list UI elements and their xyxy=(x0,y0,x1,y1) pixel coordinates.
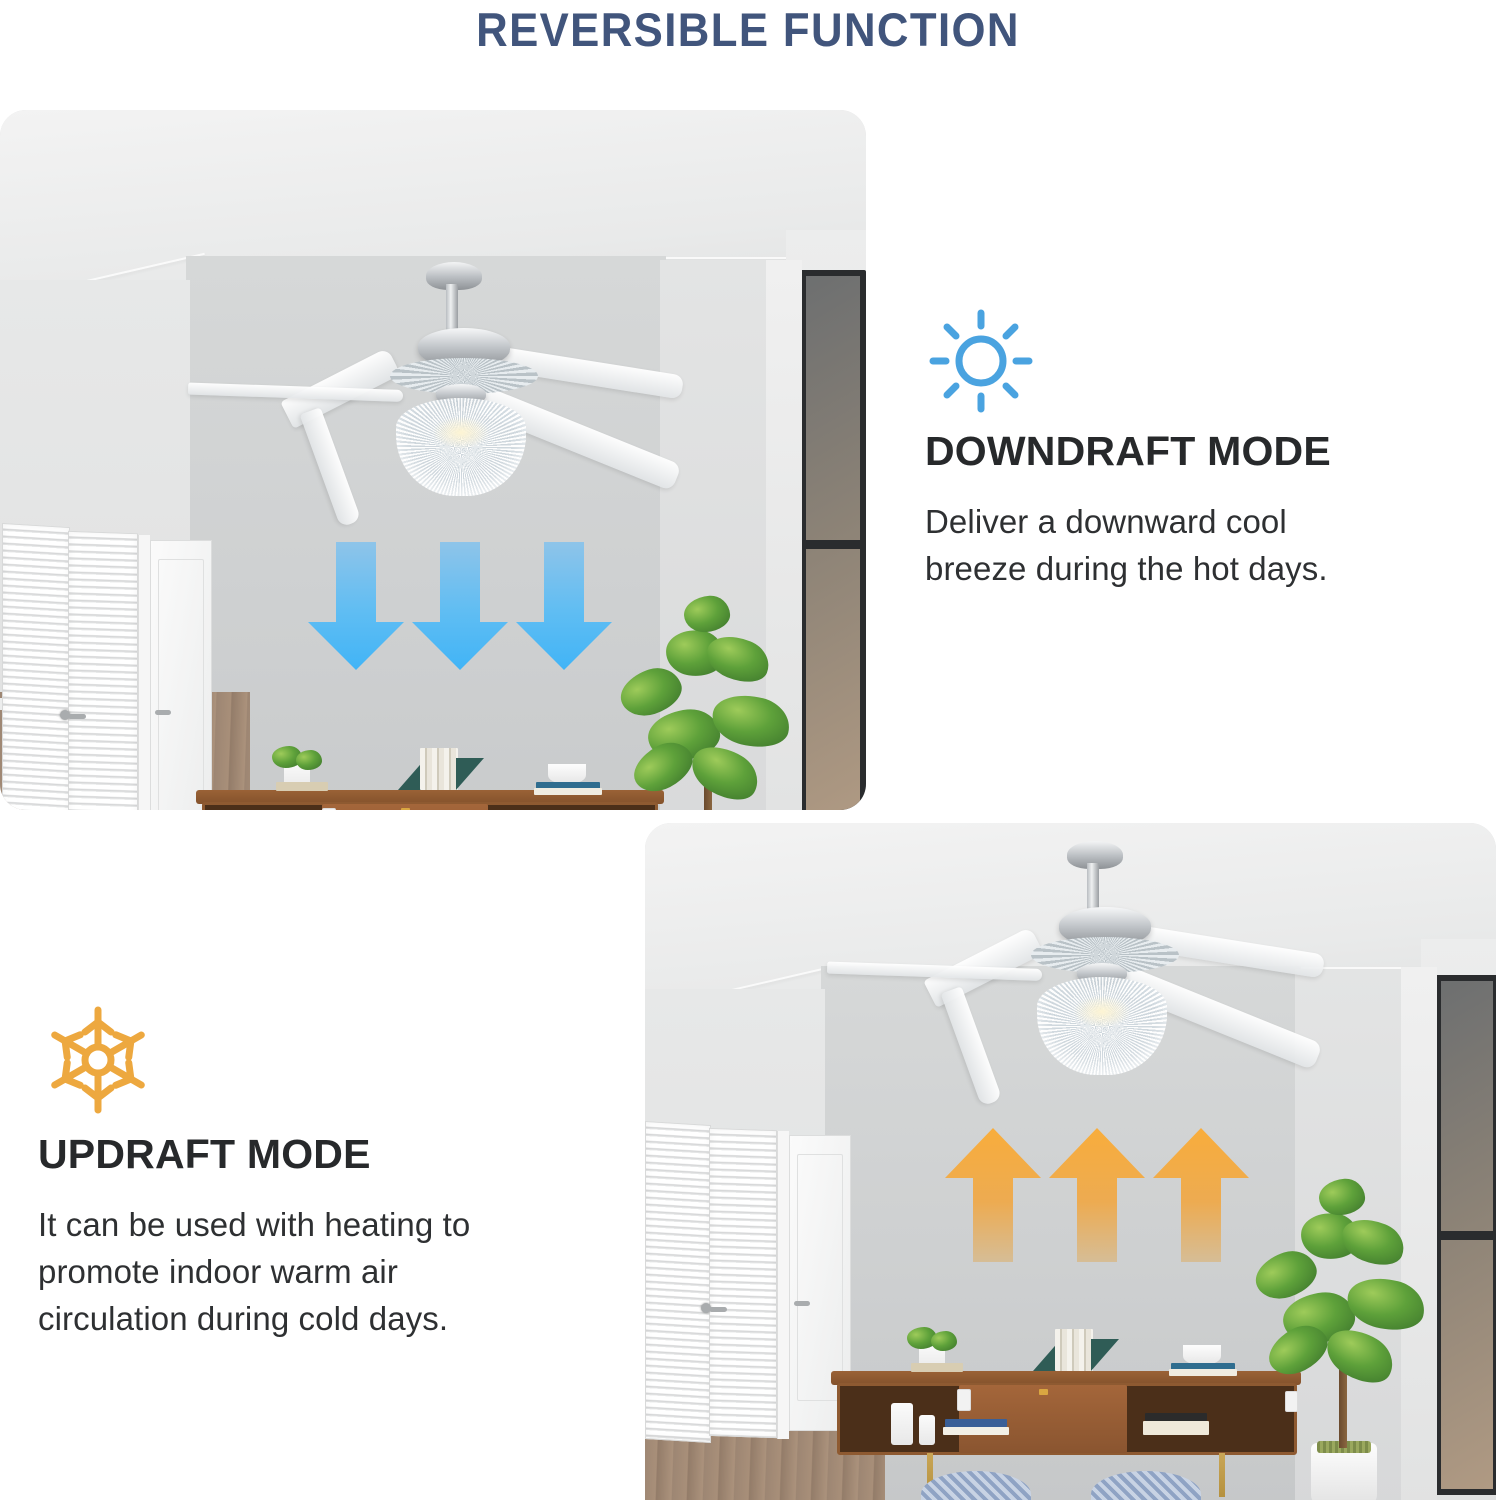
window-frame xyxy=(1435,975,1496,1495)
arrow-up-2 xyxy=(1049,1128,1145,1262)
page-title: REVERSIBLE FUNCTION xyxy=(52,2,1443,57)
room-scene-updraft xyxy=(645,823,1496,1500)
arrow-down-2 xyxy=(412,542,508,670)
arrow-down-3 xyxy=(516,542,612,670)
crystal-light-shade xyxy=(396,398,526,496)
photo-downdraft xyxy=(0,110,866,810)
wall-outlet-2 xyxy=(1285,1391,1298,1412)
updraft-body-line-2: promote indoor warm air xyxy=(38,1249,598,1296)
ceiling-fan xyxy=(841,833,1361,1113)
decor-bowl xyxy=(548,764,586,784)
fan-blade-5 xyxy=(941,986,1003,1106)
downdraft-body: Deliver a downward cool breeze during th… xyxy=(925,499,1455,593)
window-reveal xyxy=(1401,967,1437,1500)
closet-door-lever[interactable] xyxy=(68,714,86,719)
book-cream xyxy=(534,788,602,795)
panel-door-lever[interactable] xyxy=(155,710,171,715)
door-jamb xyxy=(138,535,150,810)
sun-icon xyxy=(925,305,1455,422)
arrow-up-1 xyxy=(945,1128,1041,1262)
photo-updraft xyxy=(645,823,1496,1500)
louvered-door-left xyxy=(2,523,70,810)
downdraft-body-line-2: breeze during the hot days. xyxy=(925,546,1455,593)
bookend-right xyxy=(1091,1339,1119,1371)
wall-outlet-1 xyxy=(322,808,336,810)
louvered-door-right xyxy=(709,1128,777,1438)
section-updraft: UPDRAFT MODE It can be used with heating… xyxy=(38,1000,598,1343)
plant-foliage-2 xyxy=(296,750,322,770)
book-stack-left xyxy=(276,782,328,791)
ceiling-fan xyxy=(200,250,720,530)
closet-door-lever[interactable] xyxy=(709,1307,727,1312)
airflow-arrows-up xyxy=(945,1128,1257,1264)
snowflake-icon xyxy=(38,1000,598,1125)
console-cabinet-door[interactable] xyxy=(322,804,488,810)
updraft-body-line-1: It can be used with heating to xyxy=(38,1202,598,1249)
downdraft-body-line-1: Deliver a downward cool xyxy=(925,499,1455,546)
shelf-book-3 xyxy=(1145,1413,1207,1421)
book-stack-left xyxy=(911,1363,963,1372)
shelf-candle-large xyxy=(891,1403,913,1445)
shelf-candle-small xyxy=(919,1415,935,1445)
updraft-heading: UPDRAFT MODE xyxy=(38,1133,598,1176)
shelf-book-2 xyxy=(943,1427,1009,1435)
section-downdraft: DOWNDRAFT MODE Deliver a downward cool b… xyxy=(925,305,1455,593)
panel-door xyxy=(150,540,212,810)
bookend-right xyxy=(456,758,484,790)
room-scene-downdraft xyxy=(0,110,866,810)
shelf-book-4 xyxy=(1143,1421,1209,1435)
console-leg-right xyxy=(1219,1453,1225,1497)
panel-door-lever[interactable] xyxy=(794,1301,810,1306)
book-cream xyxy=(1169,1369,1237,1376)
infographic-page: REVERSIBLE FUNCTION xyxy=(0,0,1496,1500)
shelf-book-1 xyxy=(945,1419,1007,1427)
fan-downrod xyxy=(446,284,458,330)
downdraft-heading: DOWNDRAFT MODE xyxy=(925,430,1455,473)
updraft-body-line-3: circulation during cold days. xyxy=(38,1296,598,1343)
window-mullion xyxy=(1435,1231,1496,1240)
book-row-center xyxy=(420,748,458,790)
door-jamb xyxy=(777,1131,789,1439)
louvered-door-left xyxy=(645,1121,711,1443)
fan-blade-5 xyxy=(300,407,362,527)
window-frame xyxy=(800,270,866,810)
crystal-light-shade xyxy=(1037,977,1167,1075)
book-row-center xyxy=(1055,1329,1093,1371)
louvered-door-right xyxy=(68,531,138,810)
airflow-arrows-down xyxy=(308,542,616,672)
fan-downrod xyxy=(1087,863,1099,909)
arrow-down-1 xyxy=(308,542,404,670)
updraft-body: It can be used with heating to promote i… xyxy=(38,1202,598,1343)
plant-foliage-2 xyxy=(931,1331,957,1351)
wall-outlet-1 xyxy=(957,1389,971,1411)
decor-bowl xyxy=(1183,1345,1221,1365)
arrow-up-3 xyxy=(1153,1128,1249,1262)
window-mullion xyxy=(800,540,866,549)
